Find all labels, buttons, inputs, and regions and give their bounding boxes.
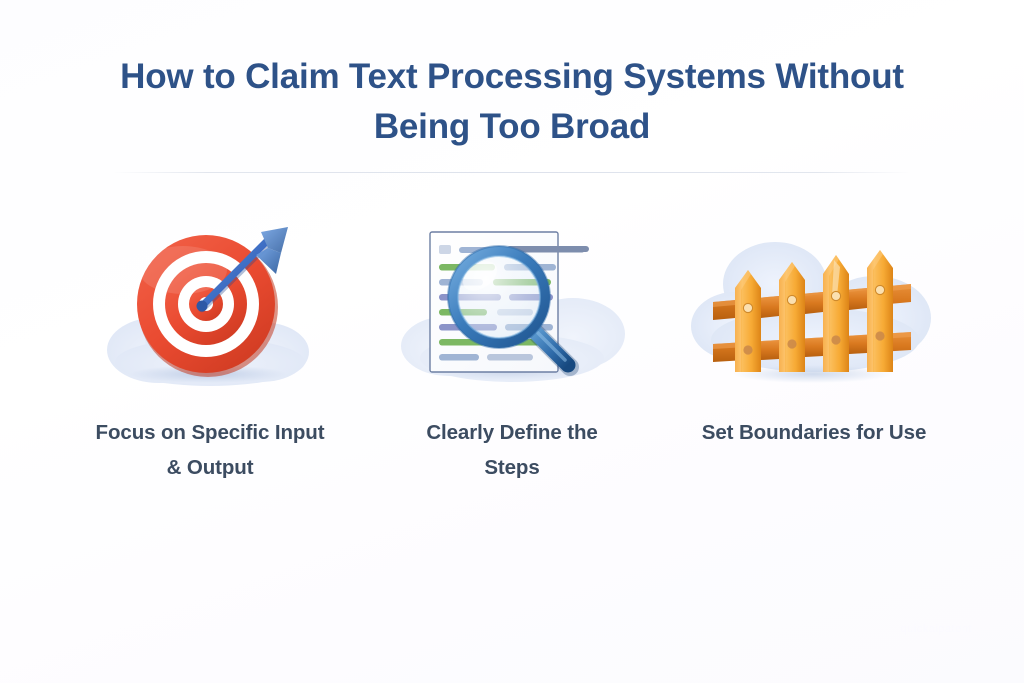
target-arrow-icon: [75, 222, 345, 397]
caption-focus-on-specific-input-output: Focus on Specific Input & Output: [95, 415, 325, 486]
column-focus-on-specific-input-output: Focus on Specific Input & Output: [60, 222, 360, 486]
watermark: quickaipatent: [901, 623, 972, 635]
column-clearly-define-the-steps: Clearly Define the Steps: [362, 222, 662, 486]
caption-set-boundaries-for-use: Set Boundaries for Use: [702, 415, 927, 450]
title-divider: [112, 172, 912, 173]
column-set-boundaries-for-use: Set Boundaries for Use: [664, 222, 964, 450]
infographic-canvas: How to Claim Text Processing Systems Wit…: [0, 0, 1024, 683]
title-block: How to Claim Text Processing Systems Wit…: [0, 52, 1024, 153]
caption-clearly-define-the-steps: Clearly Define the Steps: [397, 415, 627, 486]
document-magnifier-icon: [377, 222, 647, 397]
columns-row: Focus on Specific Input & Output: [60, 222, 964, 486]
document-accent-line: [553, 246, 589, 252]
picket-fence-icon: [679, 222, 949, 397]
page-title: How to Claim Text Processing Systems Wit…: [112, 52, 912, 153]
